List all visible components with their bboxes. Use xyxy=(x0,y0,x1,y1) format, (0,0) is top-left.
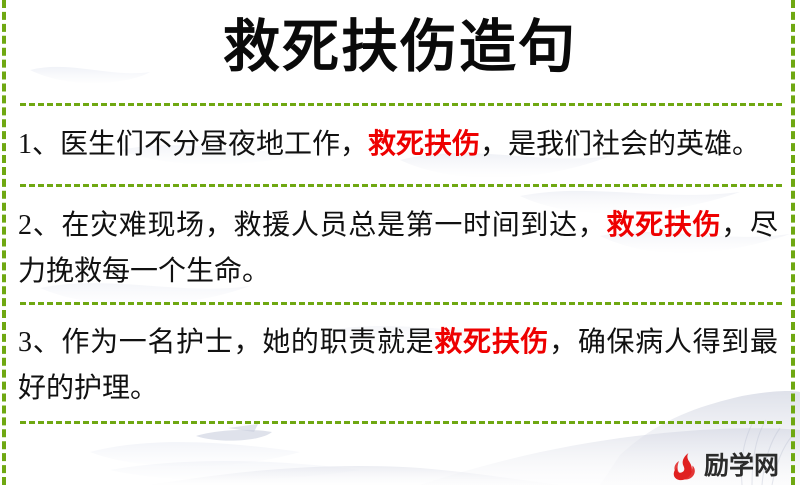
sentence-text: 3、作为一名护士，她的职责就是 xyxy=(18,327,434,358)
highlighted-idiom: 救死扶伤 xyxy=(607,210,722,241)
example-sentence-3: 3、作为一名护士，她的职责就是救死扶伤，确保病人得到最好的护理。 xyxy=(18,320,778,412)
sentence-text: 1、医生们不分昼夜地工作， xyxy=(18,129,368,160)
highlighted-idiom: 救死扶伤 xyxy=(434,327,549,358)
separator-rule-4 xyxy=(20,421,782,424)
red-swirl-flame-icon xyxy=(668,450,700,482)
site-watermark-text: 励学网 xyxy=(704,451,779,481)
separator-rule-2 xyxy=(20,184,782,187)
sentence-text: 2、在灾难现场，救援人员总是第一时间到达， xyxy=(18,210,607,241)
sentence-text: ，是我们社会的英雄。 xyxy=(480,129,760,160)
site-watermark-logo: 励学网 xyxy=(668,449,779,483)
separator-rule-3 xyxy=(20,302,782,305)
separator-rule-1 xyxy=(20,103,782,106)
page-title: 救死扶伤造句 xyxy=(0,8,800,88)
highlighted-idiom: 救死扶伤 xyxy=(368,129,480,160)
slide-page: 救死扶伤造句 1、医生们不分昼夜地工作，救死扶伤，是我们社会的英雄。 2、在灾难… xyxy=(0,0,800,485)
example-sentence-1: 1、医生们不分昼夜地工作，救死扶伤，是我们社会的英雄。 xyxy=(18,122,778,168)
example-sentence-2: 2、在灾难现场，救援人员总是第一时间到达，救死扶伤，尽力挽救每一个生命。 xyxy=(18,203,778,295)
